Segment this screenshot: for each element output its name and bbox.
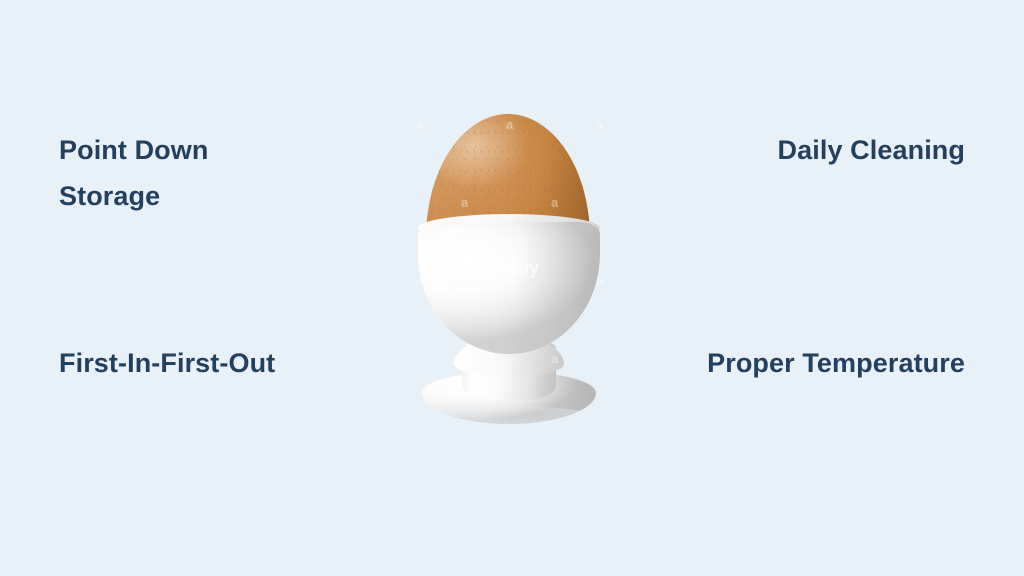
- label-daily-cleaning: Daily Cleaning: [778, 127, 965, 173]
- watermark-glyph: a: [416, 118, 423, 131]
- egg-cup-contact-shading: [424, 406, 594, 428]
- egg-cup-bowl: [418, 222, 600, 354]
- label-first-in-first-out: First-In-First-Out: [59, 340, 275, 386]
- label-point-down-storage: Point Down Storage: [59, 127, 208, 219]
- slide-canvas: Point Down Storage Daily Cleaning First-…: [0, 0, 1024, 576]
- label-proper-temperature: Proper Temperature: [707, 340, 965, 386]
- egg-cup-bowl-shading: [418, 222, 600, 354]
- egg-in-egg-cup-photo: aaaaaaaaaa alamy: [394, 100, 630, 440]
- watermark-glyph: a: [596, 118, 603, 131]
